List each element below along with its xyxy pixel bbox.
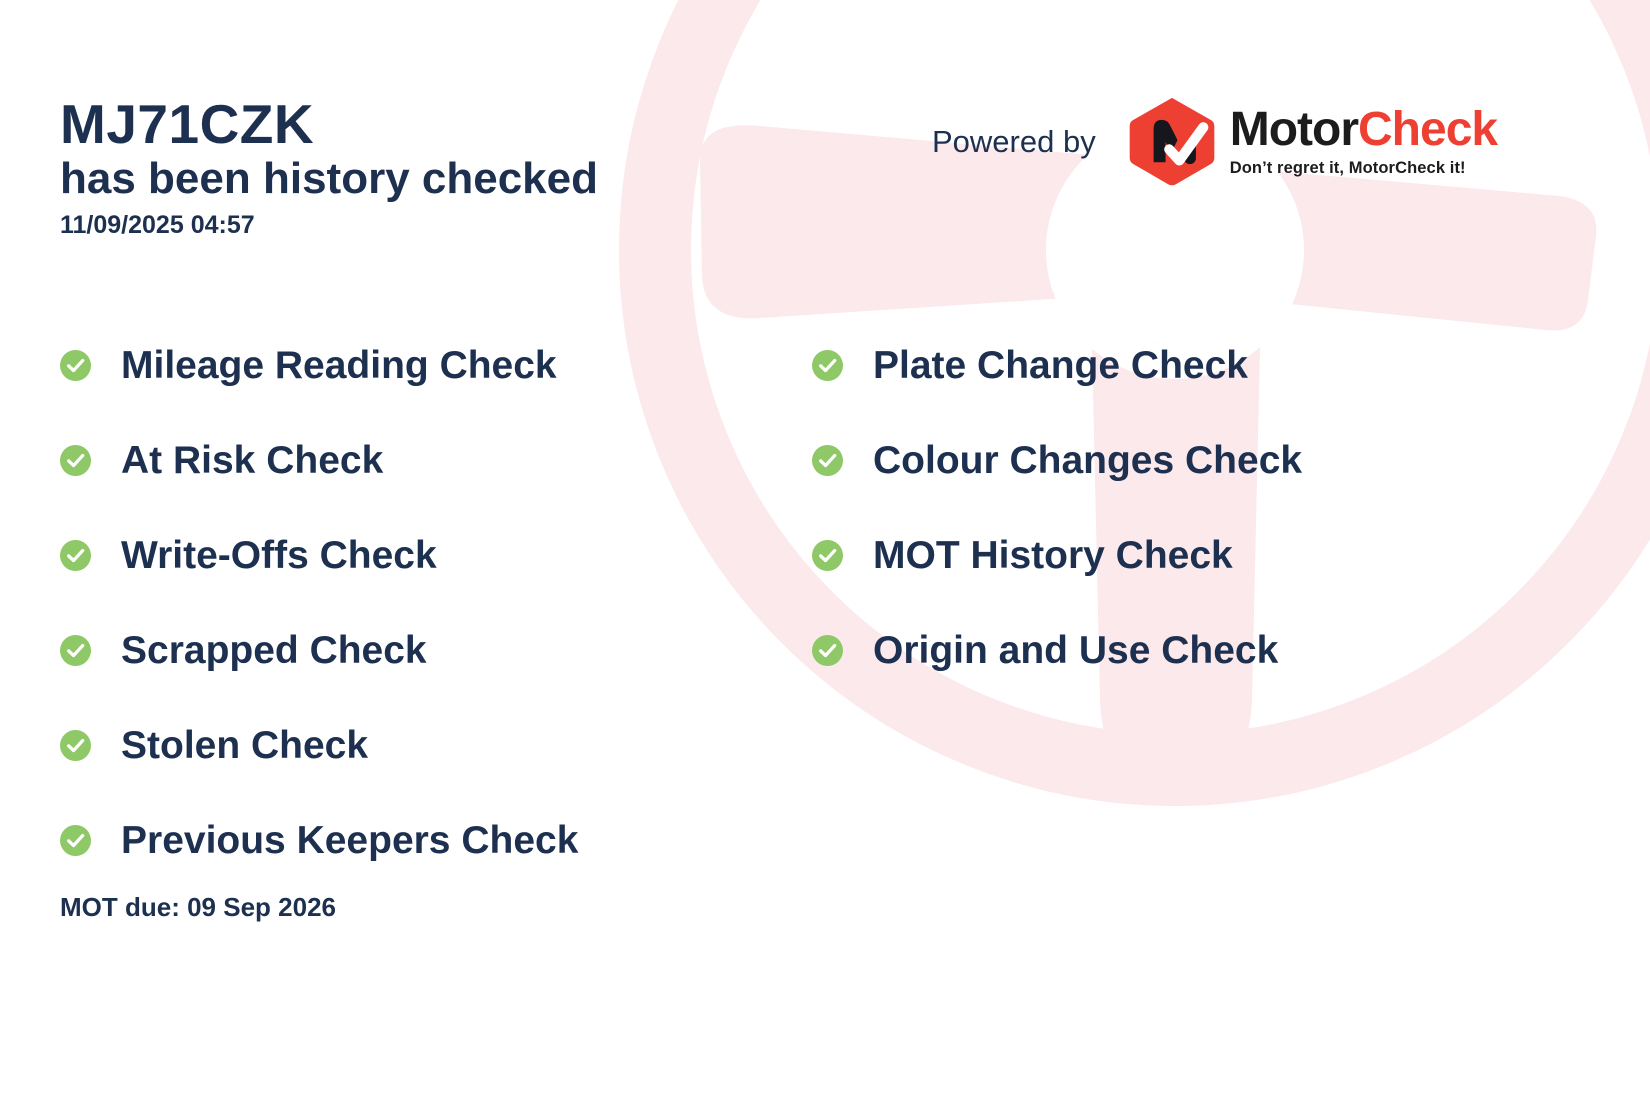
check-label: Plate Change Check	[873, 346, 1248, 385]
motorcheck-hexagon-logo-icon	[1126, 96, 1218, 188]
check-timestamp: 11/09/2025 04:57	[60, 211, 598, 240]
check-circle-icon	[60, 350, 91, 381]
check-label: Stolen Check	[121, 726, 368, 765]
page-subtitle-headline: has been history checked	[60, 153, 598, 205]
list-item: At Risk Check	[60, 413, 578, 508]
check-circle-icon	[60, 730, 91, 761]
history-check-card: MJ71CZK has been history checked 11/09/2…	[0, 0, 1650, 1100]
check-label: Colour Changes Check	[873, 441, 1302, 480]
check-label: Previous Keepers Check	[121, 821, 578, 860]
check-label: Scrapped Check	[121, 631, 427, 670]
check-circle-icon	[812, 445, 843, 476]
check-circle-icon	[812, 635, 843, 666]
list-item: Write-Offs Check	[60, 508, 578, 603]
list-item: Mileage Reading Check	[60, 318, 578, 413]
list-item: Previous Keepers Check	[60, 793, 578, 888]
powered-by-label: Powered by	[932, 124, 1096, 160]
list-item: Scrapped Check	[60, 603, 578, 698]
header-block: MJ71CZK has been history checked 11/09/2…	[60, 96, 598, 240]
check-label: Origin and Use Check	[873, 631, 1278, 670]
check-circle-icon	[812, 350, 843, 381]
wordmark-check: Check	[1358, 103, 1497, 156]
check-circle-icon	[60, 825, 91, 856]
check-circle-icon	[60, 445, 91, 476]
list-item: Plate Change Check	[812, 318, 1302, 413]
check-circle-icon	[60, 635, 91, 666]
brand-tagline: Don’t regret it, MotorCheck it!	[1230, 159, 1497, 178]
list-item: MOT History Check	[812, 508, 1302, 603]
check-list-right-column: Plate Change Check Colour Changes Check …	[812, 318, 1302, 698]
list-item: Colour Changes Check	[812, 413, 1302, 508]
list-item: Origin and Use Check	[812, 603, 1302, 698]
powered-by-branding: Powered by MotorCheck Don’t regret it, M…	[932, 96, 1497, 188]
wordmark-motor: Motor	[1230, 103, 1358, 156]
list-item: Stolen Check	[60, 698, 578, 793]
check-circle-icon	[812, 540, 843, 571]
page-title-registration-plate: MJ71CZK	[60, 96, 598, 153]
check-label: At Risk Check	[121, 441, 383, 480]
check-label: Mileage Reading Check	[121, 346, 557, 385]
check-list-left-column: Mileage Reading Check At Risk Check Writ…	[60, 318, 578, 888]
check-label: MOT History Check	[873, 536, 1233, 575]
motorcheck-wordmark: MotorCheck Don’t regret it, MotorCheck i…	[1230, 106, 1497, 178]
check-label: Write-Offs Check	[121, 536, 437, 575]
check-circle-icon	[60, 540, 91, 571]
wordmark-text: MotorCheck	[1230, 106, 1497, 154]
mot-due-text: MOT due: 09 Sep 2026	[60, 892, 336, 923]
